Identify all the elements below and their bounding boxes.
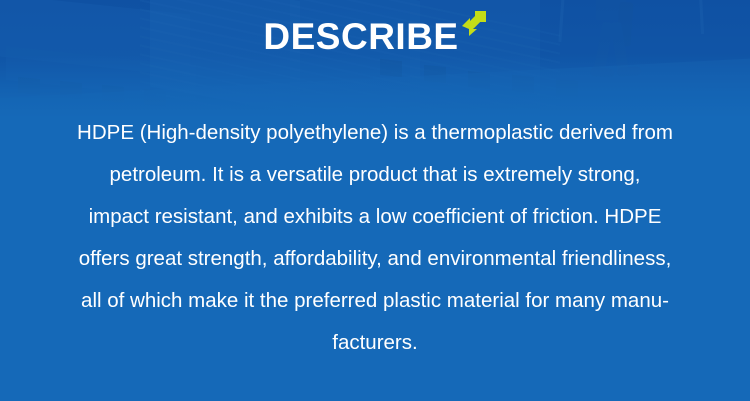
description-line: HDPE (High-density polyethylene) is a th… (14, 112, 736, 154)
description-line: all of which make it the preferred plast… (14, 280, 736, 322)
description-paragraph: HDPE (High-density polyethylene) is a th… (14, 112, 736, 364)
description-line: facturers. (14, 322, 736, 364)
description-line: petroleum. It is a versatile product tha… (14, 154, 736, 196)
arrow-corner-icon (461, 10, 487, 36)
description-line: impact resistant, and exhibits a low coe… (14, 196, 736, 238)
page-title: DESCRIBE (263, 18, 458, 55)
description-line: offers great strength, affordability, an… (14, 238, 736, 280)
describe-banner: DESCRIBE HDPE (High-density polyethylene… (0, 0, 750, 401)
banner-content: DESCRIBE HDPE (High-density polyethylene… (0, 0, 750, 401)
title-row: DESCRIBE (0, 18, 750, 55)
